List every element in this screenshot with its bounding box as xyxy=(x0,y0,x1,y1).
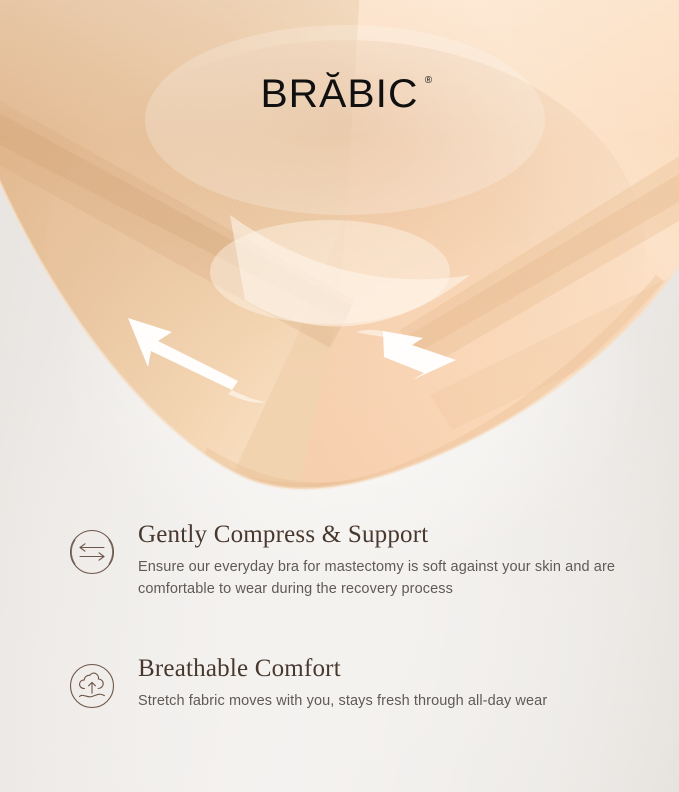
registered-trademark-icon: ® xyxy=(424,76,431,86)
feature-title: Gently Compress & Support xyxy=(138,520,639,550)
feature-item-breathable: Breathable Comfort Stretch fabric moves … xyxy=(0,654,679,712)
brand-logo: BRĂBIC® xyxy=(0,74,679,114)
feature-title: Breathable Comfort xyxy=(138,654,639,684)
feature-list: Gently Compress & Support Ensure our eve… xyxy=(0,520,679,720)
feature-item-compress: Gently Compress & Support Ensure our eve… xyxy=(0,520,679,600)
feature-text-breathable: Breathable Comfort Stretch fabric moves … xyxy=(138,654,639,712)
breathable-cloud-icon xyxy=(66,660,118,712)
feature-text-compress: Gently Compress & Support Ensure our eve… xyxy=(138,520,639,600)
compress-arrows-icon xyxy=(66,526,118,578)
product-feature-banner: BRĂBIC® Gently Compress & Su xyxy=(0,0,679,792)
feature-description: Ensure our everyday bra for mastectomy i… xyxy=(138,556,639,601)
brand-logo-text: BRĂBIC® xyxy=(260,74,418,114)
feature-description: Stretch fabric moves with you, stays fre… xyxy=(138,690,639,712)
brand-name: BRĂBIC xyxy=(260,72,418,116)
